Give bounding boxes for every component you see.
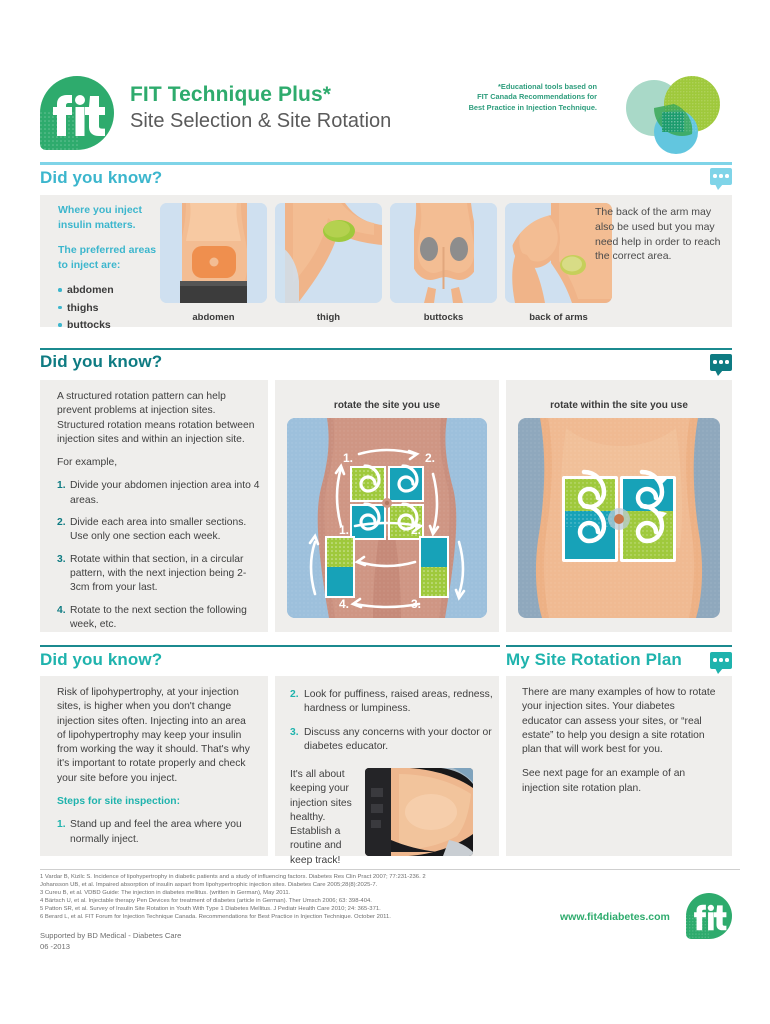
body-site-cards: abdomen thigh: [160, 203, 612, 323]
section4-p1: There are many examples of how to rotate…: [522, 686, 717, 757]
website-link[interactable]: www.fit4diabetes.com: [560, 911, 670, 923]
educational-note-line2: FIT Canada Recommendations for: [382, 92, 597, 102]
body-card-buttocks: buttocks: [390, 203, 497, 323]
list-item: 4. Rotate to the next section the follow…: [57, 604, 262, 633]
step-text: Discuss any concerns with your doctor or…: [304, 727, 492, 752]
body-card-caption: buttocks: [390, 312, 497, 323]
list-item: 3. Rotate within that section, in a circ…: [57, 553, 262, 596]
step-text: Rotate within that section, in a circula…: [70, 554, 246, 594]
speech-bubble-icon-3[interactable]: [710, 652, 732, 669]
educational-note-line1: *Educational tools based on: [382, 82, 597, 92]
bubble-dots: [713, 174, 729, 178]
section1-left-text: Where you inject insulin matters. The pr…: [58, 203, 168, 336]
step-text: Stand up and feel the area where you nor…: [70, 819, 242, 844]
abdomen-svg: [160, 203, 267, 303]
list-item: 1. Stand up and feel the area where you …: [57, 818, 257, 847]
thigh-illustration: [275, 203, 382, 303]
support-line-1: Supported by BD Medical - Diabetes Care: [40, 930, 181, 941]
buttocks-illustration: [390, 203, 497, 303]
body-card-thigh: thigh: [275, 203, 382, 323]
section2-art-left-title: rotate the site you use: [275, 400, 499, 411]
list-item: 2. Divide each area into smaller section…: [57, 516, 262, 545]
thigh-svg: [275, 203, 382, 303]
page-subtitle: Site Selection & Site Rotation: [130, 108, 391, 135]
section1-rule: [40, 162, 732, 165]
section4-text: There are many examples of how to rotate…: [522, 686, 717, 806]
rotate-within-site-illustration: [518, 418, 720, 618]
page-title: FIT Technique Plus*: [130, 82, 391, 108]
page-header: FIT Technique Plus* Site Selection & Sit…: [40, 76, 732, 156]
section2-art-right-title: rotate within the site you use: [506, 400, 732, 411]
footer-fit-logo-glyph: [686, 893, 732, 939]
abdomen-photo-svg: [365, 768, 473, 856]
bubble-tail: [715, 668, 723, 674]
section3-mid-steps: 2. Look for puffiness, raised areas, red…: [290, 688, 495, 754]
rotate-site-illustration: 1. 2. 3. 4.: [287, 418, 487, 618]
educational-note: *Educational tools based on FIT Canada R…: [382, 82, 597, 113]
step-text: Rotate to the next section the following…: [70, 605, 247, 630]
section3-title: Did you know?: [40, 650, 162, 670]
abdomen-photo: [365, 768, 473, 856]
section3-risk-text: Risk of lipohypertrophy, at your injecti…: [57, 686, 257, 786]
footer-divider: [40, 869, 740, 870]
preferred-areas-list: abdomen thighs buttocks: [58, 283, 168, 333]
educational-note-line3: Best Practice in Injection Technique.: [382, 103, 597, 113]
list-item: thighs: [58, 301, 168, 316]
section1-p1: Where you inject insulin matters.: [58, 203, 168, 232]
abdomen-illustration: [160, 203, 267, 303]
section3-mid-text: 2. Look for puffiness, raised areas, red…: [290, 688, 495, 763]
body-card-caption: abdomen: [160, 312, 267, 323]
support-line-2: 06 -2013: [40, 941, 181, 952]
step-text: Look for puffiness, raised areas, rednes…: [304, 689, 493, 714]
section4-title: My Site Rotation Plan: [506, 650, 682, 670]
poster-page: FIT Technique Plus* Site Selection & Sit…: [0, 0, 770, 1024]
bubble-tail: [715, 370, 723, 376]
title-block: FIT Technique Plus* Site Selection & Sit…: [130, 82, 391, 135]
body-card-abdomen: abdomen: [160, 203, 267, 323]
bubble-dots: [713, 658, 729, 662]
reference-line: Johansson UB, et al. Impaired absorption…: [40, 881, 740, 889]
section2-steps: 1. Divide your abdomen injection area in…: [57, 479, 262, 632]
section3-photo-row: It's all about keeping your injection si…: [290, 768, 498, 868]
section2-intro: A structured rotation pattern can help p…: [57, 390, 262, 447]
speech-bubble-icon-1[interactable]: [710, 168, 732, 185]
list-item: buttocks: [58, 318, 168, 333]
section1-title: Did you know?: [40, 168, 162, 188]
section4-rule: [506, 645, 732, 647]
step-number: 4.: [57, 604, 66, 618]
footer-fit-logo: [686, 893, 732, 939]
step-text: Divide your abdomen injection area into …: [70, 480, 259, 505]
step-number: 1.: [57, 479, 66, 493]
buttocks-svg: [390, 203, 497, 303]
step-text: Divide each area into smaller sections. …: [70, 517, 246, 542]
section4-p2: See next page for an example of an injec…: [522, 767, 717, 796]
section3-left-text: Risk of lipohypertrophy, at your injecti…: [57, 686, 257, 855]
list-item: 2. Look for puffiness, raised areas, red…: [290, 688, 495, 717]
rotate-within-svg: [518, 418, 720, 618]
section2-title: Did you know?: [40, 352, 162, 372]
section1-right-text: The back of the arm may also be used but…: [595, 205, 725, 264]
list-item: 1. Divide your abdomen injection area in…: [57, 479, 262, 508]
fit-logo: [40, 76, 114, 150]
step-number: 3.: [57, 553, 66, 567]
label-2a: 2.: [425, 451, 435, 465]
section2-for-example: For example,: [57, 456, 262, 470]
list-item: 3. Discuss any concerns with your doctor…: [290, 726, 495, 755]
body-card-caption: thigh: [275, 312, 382, 323]
label-1a: 1.: [343, 451, 353, 465]
step-number: 1.: [57, 818, 66, 832]
body-card-caption: back of arms: [505, 312, 612, 323]
list-item: abdomen: [58, 283, 168, 298]
reference-line: 1 Vardar B, Kizilc S. Incidence of lipoh…: [40, 873, 740, 881]
rotate-site-svg: 1. 2. 3. 4.: [287, 418, 487, 618]
venn-diagram-icon: [614, 76, 732, 156]
label-1b: 1.: [339, 523, 349, 537]
section3-rule: [40, 645, 500, 647]
bubble-tail: [715, 184, 723, 190]
fit-logo-glyph: [40, 76, 114, 150]
reference-line: 3 Cureu B, et al. VDBD Guide: The inject…: [40, 889, 740, 897]
step-number: 3.: [290, 726, 299, 740]
step-number: 2.: [57, 516, 66, 530]
section1-p2: The preferred areas to inject are:: [58, 243, 168, 272]
speech-bubble-icon-2[interactable]: [710, 354, 732, 371]
step-number: 2.: [290, 688, 299, 702]
support-credit: Supported by BD Medical - Diabetes Care …: [40, 930, 181, 952]
bubble-dots: [713, 360, 729, 364]
section2-rule: [40, 348, 732, 350]
label-4b: 4.: [339, 597, 349, 611]
section2-text: A structured rotation pattern can help p…: [57, 390, 262, 640]
reference-line: 4 Bärtsch U, et al. Injectable therapy P…: [40, 897, 740, 905]
section3-steps-heading: Steps for site inspection:: [57, 795, 257, 809]
section3-steps: 1. Stand up and feel the area where you …: [57, 818, 257, 847]
section3-photo-caption: It's all about keeping your injection si…: [290, 768, 356, 868]
